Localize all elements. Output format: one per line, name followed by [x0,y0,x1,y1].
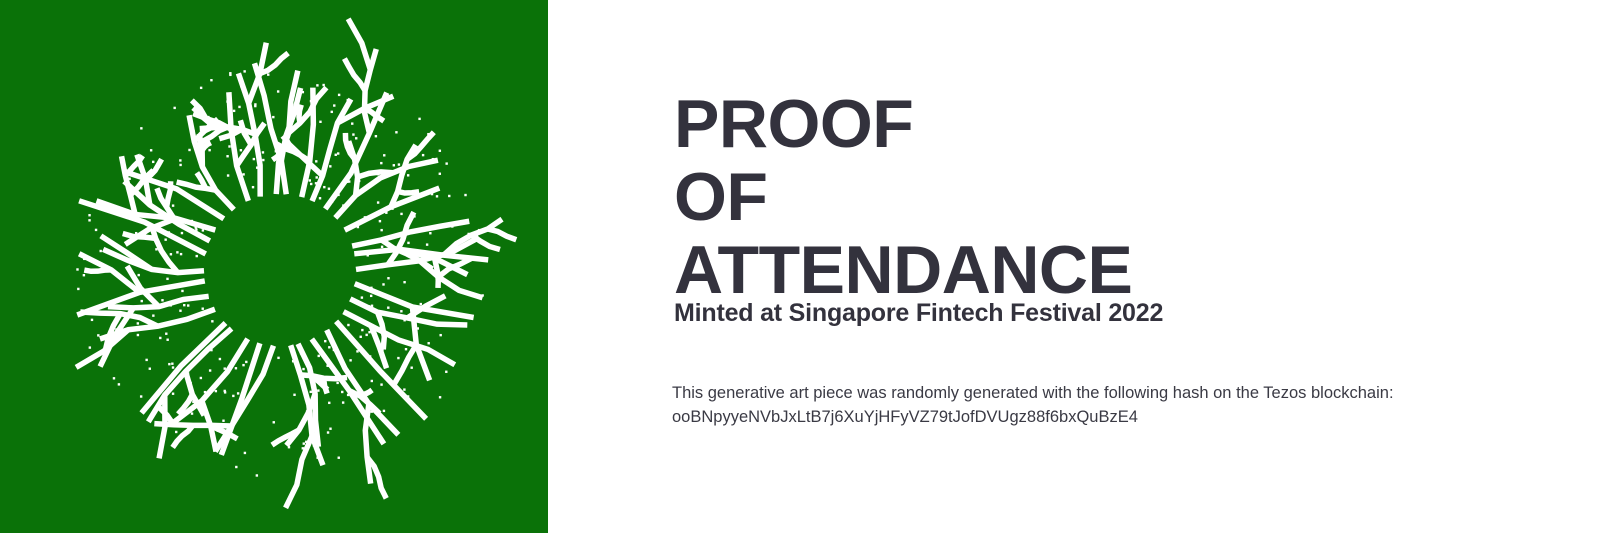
title-line-1: PROOF [674,88,1494,161]
title-line-2: OF [674,161,1494,234]
artwork-branches [76,19,516,508]
title-line-3: ATTENDANCE [674,234,1494,307]
certificate-text-panel: PROOF OF ATTENDANCE Minted at Singapore … [548,0,1600,533]
page-title: PROOF OF ATTENDANCE [674,88,1494,307]
generative-artwork-panel [0,0,548,533]
hash-description-text: This generative art piece was randomly g… [672,381,1572,405]
event-subtitle: Minted at Singapore Fintech Festival 202… [674,298,1163,328]
hash-description-block: This generative art piece was randomly g… [672,381,1572,429]
transaction-hash-value: ooBNpyyeNVbJxLtB7j6XuYjHFyVZ79tJofDVUgz8… [672,405,1572,429]
generative-artwork-svg [0,0,548,533]
proof-of-attendance-certificate: PROOF OF ATTENDANCE Minted at Singapore … [0,0,1600,533]
